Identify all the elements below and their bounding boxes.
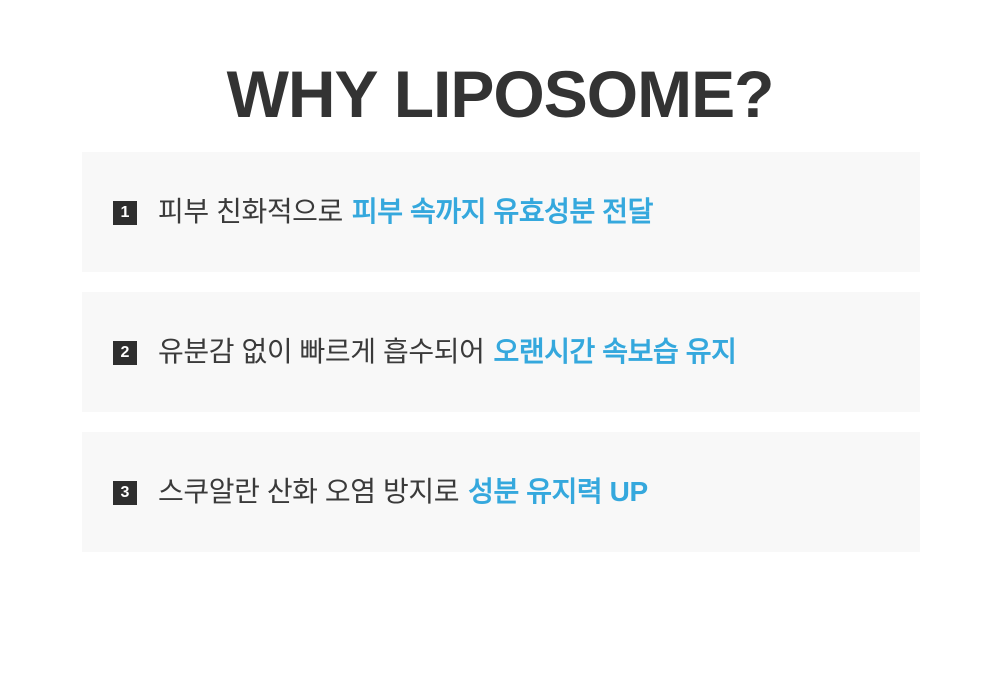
benefit-panel: 1 피부 친화적으로피부 속까지 유효성분 전달 [82, 152, 920, 272]
benefit-text: 피부 친화적으로피부 속까지 유효성분 전달 [158, 194, 653, 230]
benefit-text-normal: 스쿠알란 산화 오염 방지로 [158, 476, 459, 507]
benefit-text: 스쿠알란 산화 오염 방지로성분 유지력 UP [158, 474, 648, 510]
benefit-text-accent: 피부 속까지 유효성분 전달 [352, 196, 653, 227]
benefit-text-accent: 성분 유지력 UP [468, 476, 648, 507]
page-title: WHY LIPOSOME? [0, 52, 1000, 136]
benefit-text-normal: 유분감 없이 빠르게 흡수되어 [158, 336, 484, 367]
benefit-number-badge: 3 [113, 481, 137, 505]
benefit-panel: 3 스쿠알란 산화 오염 방지로성분 유지력 UP [82, 432, 920, 552]
benefit-number-badge: 2 [113, 341, 137, 365]
benefit-list: 1 피부 친화적으로피부 속까지 유효성분 전달 2 유분감 없이 빠르게 흡수… [82, 152, 920, 552]
promo-page: WHY LIPOSOME? 1 피부 친화적으로피부 속까지 유효성분 전달 2… [0, 0, 1000, 682]
benefit-text-accent: 오랜시간 속보습 유지 [493, 336, 736, 367]
benefit-panel: 2 유분감 없이 빠르게 흡수되어오랜시간 속보습 유지 [82, 292, 920, 412]
benefit-text: 유분감 없이 빠르게 흡수되어오랜시간 속보습 유지 [158, 334, 736, 370]
benefit-text-normal: 피부 친화적으로 [158, 196, 343, 227]
benefit-number-badge: 1 [113, 201, 137, 225]
benefit-row: 3 스쿠알란 산화 오염 방지로성분 유지력 UP [113, 474, 900, 510]
benefit-row: 1 피부 친화적으로피부 속까지 유효성분 전달 [113, 194, 900, 230]
benefit-row: 2 유분감 없이 빠르게 흡수되어오랜시간 속보습 유지 [113, 334, 900, 370]
